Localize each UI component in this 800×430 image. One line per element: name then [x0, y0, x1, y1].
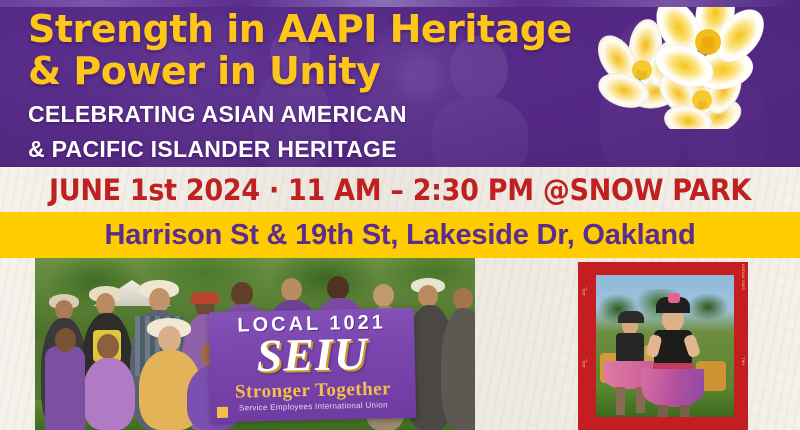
- plumeria-flowers-icon: [596, 0, 796, 129]
- dancers-photo: [596, 275, 734, 417]
- seiu-banner: LOCAL 1021 SEIU Stronger Together Servic…: [209, 308, 416, 422]
- aapi-heritage-flyer: Strength in AAPI Heritage & Power in Uni…: [0, 0, 800, 430]
- photo-strip: LOCAL 1021 SEIU Stronger Together Servic…: [0, 258, 800, 430]
- header-text-block: Strength in AAPI Heritage & Power in Uni…: [28, 8, 572, 162]
- banner-square-mark: [217, 407, 228, 418]
- film-mark-right-1: KODAK 5053: [741, 264, 746, 290]
- film-arrow-1: ↓: [585, 286, 588, 292]
- banner-union-text: SEIU: [209, 330, 415, 380]
- date-time-text: JUNE 1st 2024 · 11 AM – 2:30 PM @SNOW PA…: [28, 167, 772, 212]
- title-line-2: & Power in Unity: [28, 50, 572, 92]
- address-text: Harrison St & 19th St, Lakeside Dr, Oakl…: [105, 219, 696, 252]
- subtitle-line-2: & PACIFIC ISLANDER HERITAGE: [28, 136, 572, 162]
- film-mark-right-2: TMY: [741, 357, 746, 366]
- address-band: Harrison St & 19th St, Lakeside Dr, Oakl…: [0, 212, 800, 258]
- film-arrow-2: ↓: [585, 358, 588, 364]
- group-photo: LOCAL 1021 SEIU Stronger Together Servic…: [35, 258, 475, 430]
- header-banner: Strength in AAPI Heritage & Power in Uni…: [0, 0, 800, 167]
- subtitle-line-1: CELEBRATING ASIAN AMERICAN: [28, 101, 572, 127]
- dancers-photo-frame: 13A 14A KODAK 5053 TMY ↓ ↓: [578, 262, 748, 430]
- top-edge-strip: [0, 0, 800, 7]
- date-time-band: JUNE 1st 2024 · 11 AM – 2:30 PM @SNOW PA…: [0, 167, 800, 212]
- title-line-1: Strength in AAPI Heritage: [28, 8, 572, 50]
